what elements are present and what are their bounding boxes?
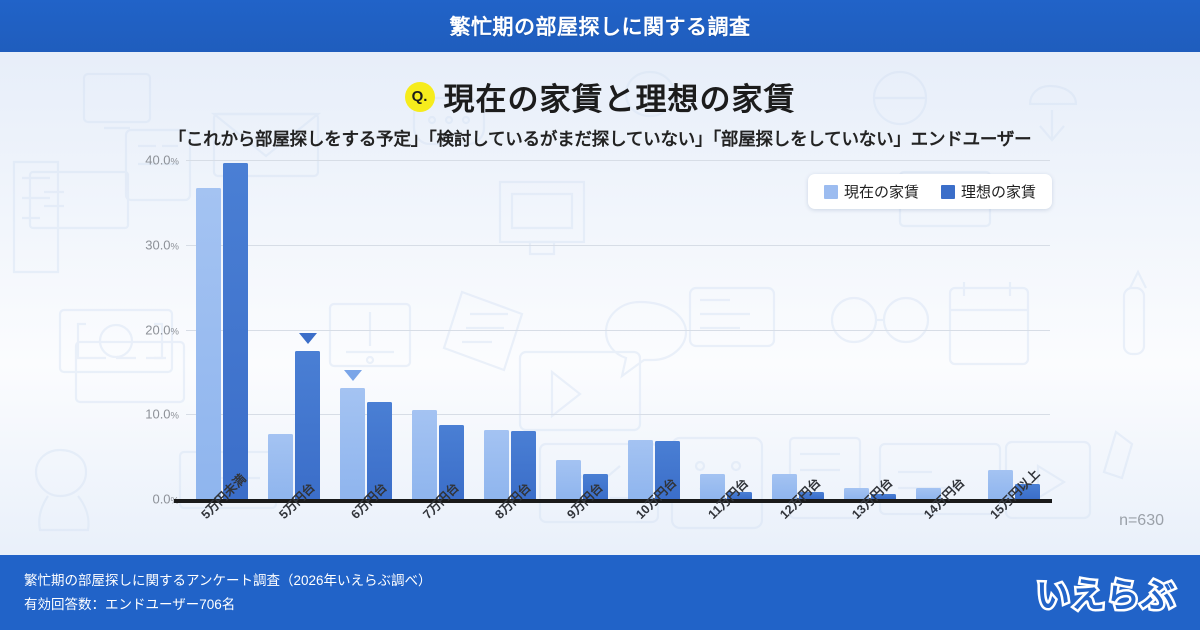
- legend-label-ideal-rent: 理想の家賃: [961, 181, 1036, 202]
- plot-area: 0.0%10.0%20.0%30.0%40.0%: [186, 160, 1050, 499]
- bar-current-rent[interactable]: [196, 188, 221, 499]
- y-axis-tick-20: 20.0%: [145, 322, 179, 337]
- infographic-page: 繁忙期の部屋探しに関する調査: [0, 0, 1200, 630]
- bar-group: [474, 160, 546, 499]
- question-block: Q. 現在の家賃と理想の家賃 「これから部屋探しをする予定」「検討しているがまだ…: [0, 74, 1200, 151]
- legend-swatch-current-rent: [824, 185, 838, 199]
- bar-group: [690, 160, 762, 499]
- legend-item-ideal-rent[interactable]: 理想の家賃: [941, 181, 1036, 202]
- x-axis-label-cell: 13万円台: [834, 503, 906, 555]
- bar-current-rent[interactable]: [484, 430, 509, 499]
- chart-canvas: Q. 現在の家賃と理想の家賃 「これから部屋探しをする予定」「検討しているがまだ…: [0, 52, 1200, 555]
- y-axis-tick-10: 10.0%: [145, 407, 179, 422]
- x-axis-label-cell: 5万円未満: [186, 503, 258, 555]
- bar-group: [402, 160, 474, 499]
- bar-current-rent[interactable]: [340, 388, 365, 499]
- highlight-triangle-marker-icon: [299, 333, 317, 344]
- bar-group: [258, 160, 330, 499]
- y-axis-tick-40: 40.0%: [145, 153, 179, 168]
- footer-survey-line: 繁忙期の部屋探しに関するアンケート調査（2026年いえらぶ調べ）: [24, 569, 432, 593]
- bar-group: [978, 160, 1050, 499]
- legend-label-current-rent: 現在の家賃: [844, 181, 919, 202]
- x-axis-label-cell: 5万円台: [258, 503, 330, 555]
- bar-group: [618, 160, 690, 499]
- logo-text: いえらぶ: [1036, 568, 1176, 617]
- x-axis-label-cell: 11万円台: [690, 503, 762, 555]
- bar-group: [546, 160, 618, 499]
- question-subtitle: 「これから部屋探しをする予定」「検討しているがまだ探していない」「部屋探しをして…: [0, 126, 1200, 151]
- question-badge: Q.: [405, 82, 435, 112]
- sample-size-label: n=630: [1119, 512, 1164, 530]
- bar-group: [330, 160, 402, 499]
- x-axis-label-cell: 6万円台: [330, 503, 402, 555]
- footer-text-block: 繁忙期の部屋探しに関するアンケート調査（2026年いえらぶ調べ） 有効回答数：エ…: [24, 569, 432, 616]
- y-axis-tick-30: 30.0%: [145, 237, 179, 252]
- page-title: 現在の家賃と理想の家賃: [444, 74, 796, 119]
- chart-legend: 現在の家賃 理想の家賃: [808, 174, 1052, 209]
- ieralabu-logo[interactable]: いえらぶ: [1036, 568, 1176, 617]
- x-axis-label-cell: 8万円台: [474, 503, 546, 555]
- bar-ideal-rent[interactable]: [223, 163, 248, 499]
- x-axis-label-cell: 12万円台: [762, 503, 834, 555]
- legend-item-current-rent[interactable]: 現在の家賃: [824, 181, 919, 202]
- x-axis-label-cell: 7万円台: [402, 503, 474, 555]
- bar-groups: [186, 160, 1050, 499]
- question-title-line: Q. 現在の家賃と理想の家賃: [405, 74, 796, 119]
- bar-group: [186, 160, 258, 499]
- legend-swatch-ideal-rent: [941, 185, 955, 199]
- highlight-triangle-marker-icon: [344, 370, 362, 381]
- bar-group: [834, 160, 906, 499]
- bar-current-rent[interactable]: [268, 434, 293, 499]
- x-axis-label-cell: 15万円以上: [978, 503, 1050, 555]
- page-footer: 繁忙期の部屋探しに関するアンケート調査（2026年いえらぶ調べ） 有効回答数：エ…: [0, 555, 1200, 630]
- header-title: 繁忙期の部屋探しに関する調査: [450, 11, 751, 41]
- x-axis-label-cell: 14万円台: [906, 503, 978, 555]
- x-axis-labels: 5万円未満5万円台6万円台7万円台8万円台9万円台10万円台11万円台12万円台…: [186, 503, 1050, 555]
- x-axis-label-cell: 10万円台: [618, 503, 690, 555]
- bar-ideal-rent[interactable]: [295, 351, 320, 499]
- page-header: 繁忙期の部屋探しに関する調査: [0, 0, 1200, 52]
- bar-group: [762, 160, 834, 499]
- bar-current-rent[interactable]: [412, 410, 437, 499]
- footer-responses-line: 有効回答数：エンドユーザー706名: [24, 593, 432, 617]
- bar-group: [906, 160, 978, 499]
- x-axis-label-cell: 9万円台: [546, 503, 618, 555]
